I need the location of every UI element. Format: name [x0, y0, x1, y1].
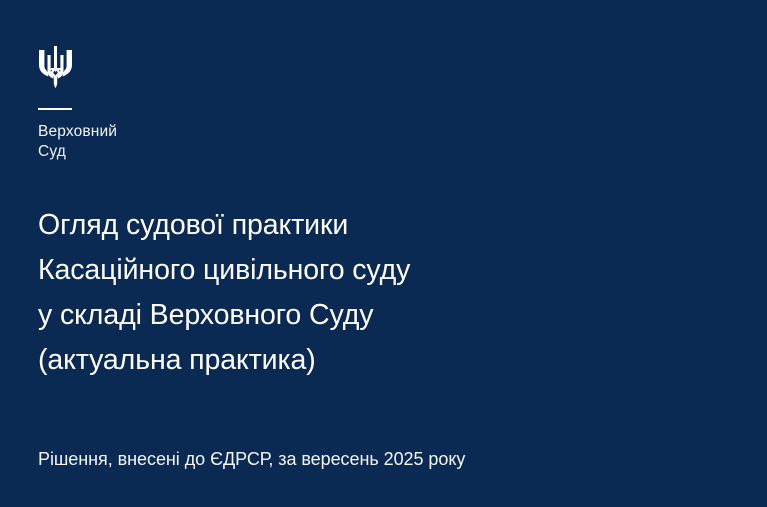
title-line-1: Огляд судової практики: [38, 203, 678, 248]
brand-block: Верховний Суд: [38, 46, 338, 162]
subtitle-note: Рішення, внесені до ЄДРСР, за вересень 2…: [38, 447, 465, 471]
brand-divider-rule: [38, 108, 72, 110]
page-title: Огляд судової практики Касаційного цивіл…: [38, 203, 678, 383]
title-line-3: у складі Верховного Суду: [38, 293, 678, 338]
title-line-2: Касаційного цивільного суду: [38, 248, 678, 293]
title-line-4: (актуальна практика): [38, 338, 678, 383]
brand-name: Верховний Суд: [38, 122, 338, 162]
ukrainian-trident-emblem: [38, 46, 73, 88]
cover-slide: Верховний Суд Огляд судової практики Кас…: [0, 0, 767, 507]
